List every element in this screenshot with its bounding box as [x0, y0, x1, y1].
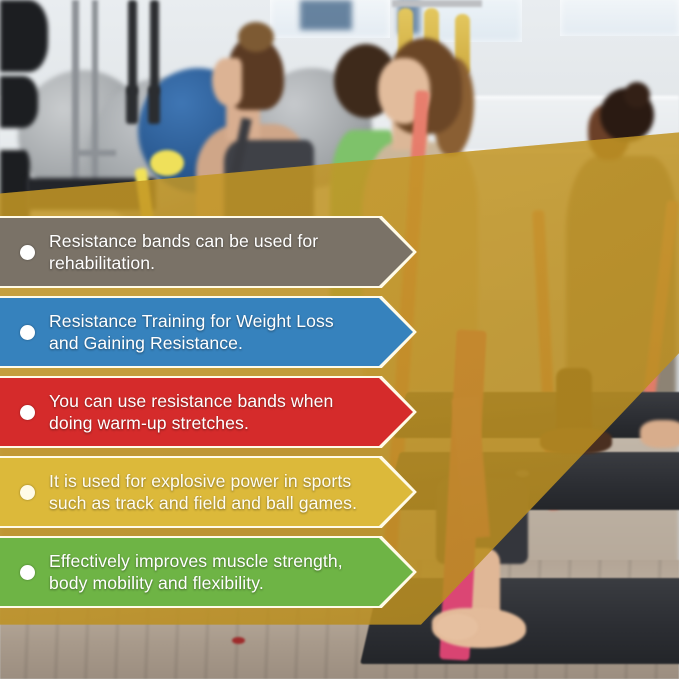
resistance-band-yellow — [150, 150, 184, 176]
bullet-icon — [20, 485, 35, 500]
banner-text-line2: doing warm-up stretches. — [49, 412, 333, 434]
infographic-canvas: Resistance bands can be used for rehabil… — [0, 0, 679, 679]
gym-equipment — [0, 76, 38, 128]
banner-text-line2: rehabilitation. — [49, 252, 318, 274]
banner-text-line2: and Gaining Resistance. — [49, 332, 334, 354]
banner-text-line2: body mobility and flexibility. — [49, 572, 343, 594]
banner-text-line2: such as track and field and ball games. — [49, 492, 357, 514]
suspension-strap — [128, 0, 137, 95]
benefits-banner-list: Resistance bands can be used for rehabil… — [0, 216, 420, 616]
banner-text-line1: You can use resistance bands when — [49, 390, 333, 412]
cable-machine-frame — [92, 0, 98, 200]
banner-text-line1: It is used for explosive power in sports — [49, 470, 357, 492]
banner-warm-up[interactable]: You can use resistance bands when doing … — [0, 376, 420, 448]
window-pane — [560, 0, 679, 36]
bullet-icon — [20, 245, 35, 260]
window-blue-reflection — [300, 0, 352, 30]
banner-muscle-strength[interactable]: Effectively improves muscle strength, bo… — [0, 536, 420, 608]
banner-rehabilitation[interactable]: Resistance bands can be used for rehabil… — [0, 216, 420, 288]
suspension-strap — [126, 86, 138, 124]
cable-machine-frame — [76, 150, 116, 156]
suspension-strap — [150, 0, 159, 95]
wall-rail — [392, 0, 482, 7]
gym-equipment — [0, 0, 48, 72]
suspension-strap — [148, 86, 160, 124]
banner-text: You can use resistance bands when doing … — [49, 390, 333, 434]
bullet-icon — [20, 405, 35, 420]
bare-foot-toes — [436, 614, 478, 640]
cable-machine-frame — [72, 0, 79, 200]
person-hand — [640, 420, 679, 448]
banner-text: Resistance Training for Weight Loss and … — [49, 310, 334, 354]
banner-text: Resistance bands can be used for rehabil… — [49, 230, 318, 274]
banner-text: It is used for explosive power in sports… — [49, 470, 357, 514]
banner-text-line1: Resistance bands can be used for — [49, 230, 318, 252]
banner-text: Effectively improves muscle strength, bo… — [49, 550, 343, 594]
bullet-icon — [20, 565, 35, 580]
banner-explosive-power[interactable]: It is used for explosive power in sports… — [0, 456, 420, 528]
banner-text-line1: Effectively improves muscle strength, — [49, 550, 343, 572]
mat-logo-dot — [232, 637, 245, 644]
banner-text-line1: Resistance Training for Weight Loss — [49, 310, 334, 332]
banner-weight-loss[interactable]: Resistance Training for Weight Loss and … — [0, 296, 420, 368]
bullet-icon — [20, 325, 35, 340]
